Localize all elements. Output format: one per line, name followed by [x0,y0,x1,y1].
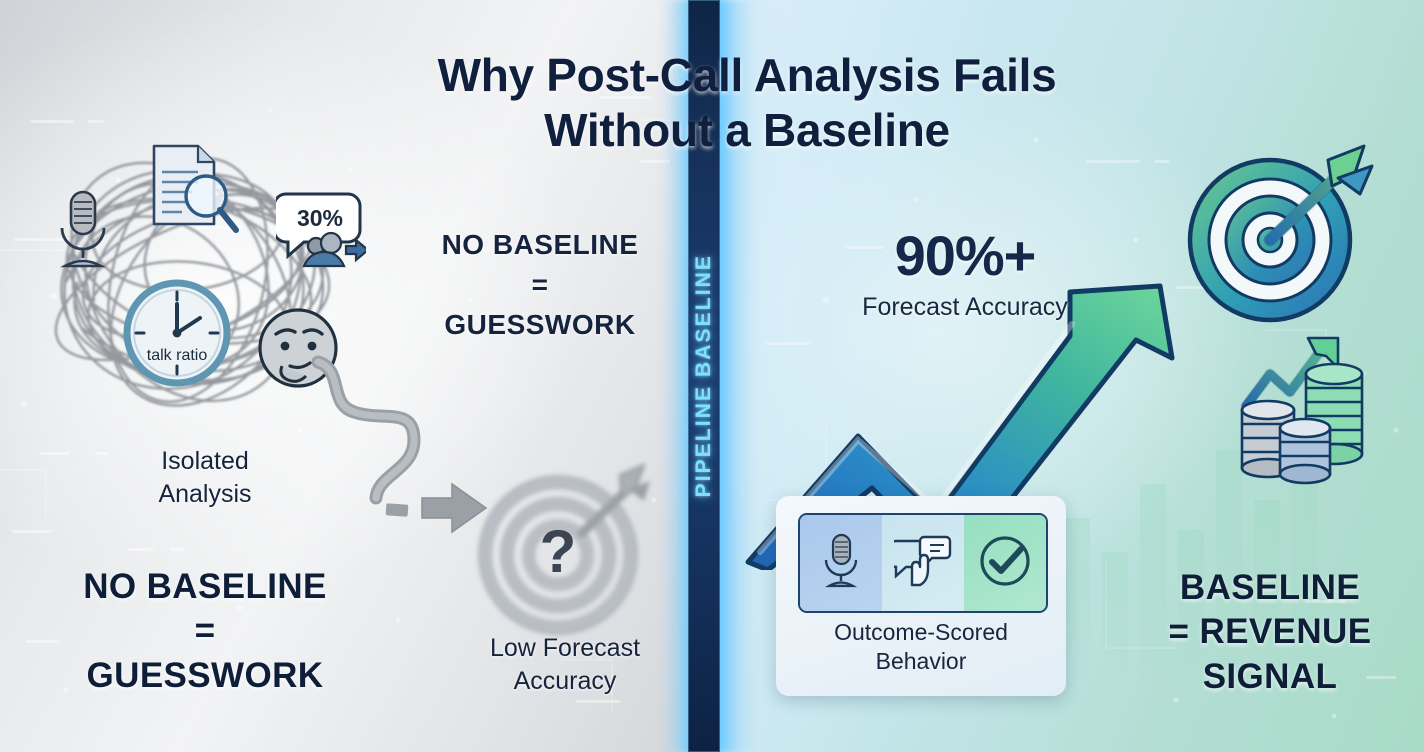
coins-growth-icon [1228,322,1403,487]
hand-speech-bubble-icon [894,533,952,594]
forecast-accuracy-stat: 90%+ Forecast Accuracy [820,228,1110,322]
left-mid-line-1: NO BASELINE [400,225,680,265]
right-big-line-2: = REVENUE [1120,610,1420,654]
infographic-canvas: PIPELINE BASELINE Why Post-Call Analysis… [0,0,1424,752]
left-mid-line-3: GUESSWORK [400,305,680,345]
svg-text:?: ? [540,518,577,585]
card-icon-strip [798,513,1048,613]
right-big-line-3: SIGNAL [1120,655,1420,699]
isolated-line-2: Analysis [100,478,310,511]
lowfc-line-2: Accuracy [450,665,680,698]
card-caption-line-2: Behavior [776,647,1066,676]
stat-value: 90%+ [820,228,1110,284]
card-cell-microphone[interactable] [800,515,882,611]
left-big-line-3: GUESSWORK [20,654,390,698]
left-mid-line-2: = [400,265,680,305]
title-line-2: Without a Baseline [352,103,1142,158]
outcome-scored-card[interactable]: Outcome-Scored Behavior [776,496,1066,696]
outcome-scored-caption: Outcome-Scored Behavior [776,618,1066,677]
card-caption-line-1: Outcome-Scored [776,618,1066,647]
page-title: Why Post-Call Analysis Fails Without a B… [352,48,1142,158]
left-big-line-1: NO BASELINE [20,565,390,609]
lowfc-line-1: Low Forecast [450,632,680,665]
divider-label: PIPELINE BASELINE [692,254,716,497]
right-big-headline: BASELINE = REVENUE SIGNAL [1120,566,1420,699]
svg-text:30%: 30% [297,205,343,231]
left-mid-headline: NO BASELINE = GUESSWORK [400,225,680,344]
left-big-headline: NO BASELINE = GUESSWORK [20,565,390,698]
bullseye-target-icon [1178,142,1378,337]
card-cell-hand-speech[interactable] [882,515,964,611]
right-big-line-1: BASELINE [1120,566,1420,610]
microphone-icon [820,532,862,595]
card-cell-check[interactable] [964,515,1046,611]
low-forecast-accuracy-label: Low Forecast Accuracy [450,632,680,698]
question-target-icon: ? [470,455,660,645]
svg-text:talk ratio: talk ratio [147,347,208,364]
title-line-1: Why Post-Call Analysis Fails [352,48,1142,103]
left-big-line-2: = [20,609,390,653]
isolated-line-1: Isolated [100,445,310,478]
check-circle-icon [977,533,1033,594]
isolated-analysis-label: Isolated Analysis [100,445,310,511]
stat-caption: Forecast Accuracy [820,293,1110,322]
